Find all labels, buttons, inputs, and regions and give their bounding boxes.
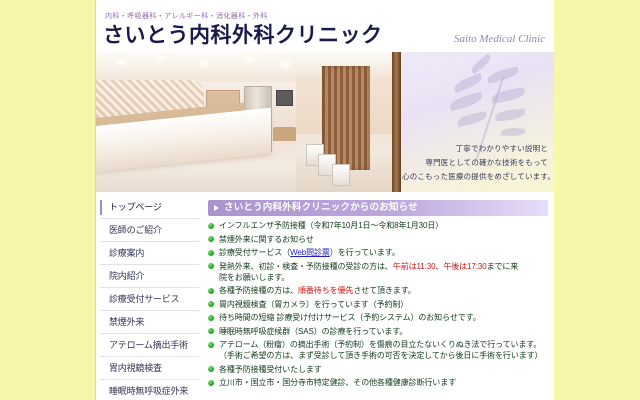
news-item-atheroma-surgery[interactable]: アテローム（粉瘤）の摘出手術（予約制）を傷痕の目立たないくりぬき法で行っています… bbox=[208, 339, 548, 361]
news-text: 各種予防接種受付いたします bbox=[219, 365, 322, 374]
leaf-icon bbox=[456, 111, 487, 127]
leaf-icon bbox=[448, 92, 484, 112]
news-item-health-checkup[interactable]: 立川市・国立市・国分寺市特定健診、その他各種健康診断行います bbox=[208, 377, 548, 388]
news-continuation: （手術ご希望の方は、まず受診して頂き手術の可否を決定してから後日に手術を行います… bbox=[219, 350, 548, 361]
news-highlight-hours: 午前は11:30、午後は17:30 bbox=[393, 262, 487, 271]
news-item-fever-clinic-hours[interactable]: 発熱外来、初診・検査・予防接種の受診の方は、午前は11:30、午後は17:30ま… bbox=[208, 261, 548, 283]
waiting-area-photo bbox=[296, 52, 400, 192]
sidebar-item-label: 禁煙外来 bbox=[109, 317, 144, 327]
tagline-line-2: 専門医としての確かな技術をもって bbox=[402, 156, 548, 170]
tagline-line-1: 丁寧でわかりやすい説明と bbox=[402, 142, 548, 156]
news-text-after: させて頂きます。 bbox=[353, 286, 415, 295]
leaf-icon bbox=[501, 128, 525, 137]
news-text-before: 発熱外来、初診・検査・予防接種の受診の方は、 bbox=[219, 262, 393, 271]
sidebar-item-medical-guide[interactable]: 診療案内 bbox=[100, 242, 199, 265]
main-content: さいとう内科外科クリニックからのお知らせ インフルエンザ予防接種（令和7年10月… bbox=[204, 192, 554, 400]
news-item-reservation-system[interactable]: 待ち時間の短縮 診療受け付けサービス（予約システム）のお知らせです。 bbox=[208, 312, 548, 323]
news-item-vaccination-reception[interactable]: 各種予防接種受付いたします bbox=[208, 364, 548, 375]
news-continuation: 院をお願いします。 bbox=[219, 272, 548, 283]
news-list: インフルエンザ予防接種（令和7年10月1日〜令和8年1月30日） 禁煙外来に関す… bbox=[208, 220, 548, 388]
hero-tagline: 丁寧でわかりやすい説明と 専門医としての確かな技術をもって 心のこもった医療の提… bbox=[402, 142, 548, 184]
page-sheet: 内科・呼吸器科・アレルギー科・消化器科・外科 さいとう内科外科クリニック Sai… bbox=[95, 0, 553, 400]
wood-column-divider bbox=[392, 52, 401, 192]
sidebar-item-label: 院内紹介 bbox=[109, 271, 144, 281]
ceiling-light-icon bbox=[200, 61, 207, 65]
news-text-before: 診療受付サービス（ bbox=[219, 248, 290, 257]
news-text-before: 各種予防接種の方は、 bbox=[219, 286, 298, 295]
news-text-after: ）を行っています。 bbox=[330, 248, 400, 257]
sidebar-item-label: トップページ bbox=[109, 202, 162, 212]
tagline-panel: 丁寧でわかりやすい説明と 専門医としての確かな技術をもって 心のこもった医療の提… bbox=[401, 52, 554, 192]
news-highlight-priority: 順番待ちを優先 bbox=[298, 286, 353, 295]
wall-monitor bbox=[276, 90, 293, 106]
news-item-influenza[interactable]: インフルエンザ予防接種（令和7年10月1日〜令和8年1月30日） bbox=[208, 220, 548, 231]
leaf-icon bbox=[452, 73, 484, 94]
news-text: 睡眠時無呼吸症候群（SAS）の診療を行っています。 bbox=[219, 327, 407, 336]
page-root: 内科・呼吸器科・アレルギー科・消化器科・外科 さいとう内科外科クリニック Sai… bbox=[0, 0, 640, 400]
web-questionnaire-link[interactable]: Web問診票 bbox=[290, 248, 330, 257]
news-item-gastroscopy[interactable]: 胃内視鏡検査（胃カメラ）を行っています（予約制） bbox=[208, 299, 548, 310]
hero-banner: 丁寧でわかりやすい説明と 専門医としての確かな技術をもって 心のこもった医療の提… bbox=[96, 52, 554, 192]
news-item-vaccination-priority[interactable]: 各種予防接種の方は、順番待ちを優先させて頂きます。 bbox=[208, 285, 548, 296]
clinic-name-english: Saito Medical Clinic bbox=[454, 33, 545, 45]
news-text: インフルエンザ予防接種（令和7年10月1日〜令和8年1月30日） bbox=[219, 221, 443, 230]
news-text: 禁煙外来に関するお知らせ bbox=[219, 235, 314, 244]
sidebar-item-atheroma-surgery[interactable]: アテローム摘出手術 bbox=[100, 334, 199, 357]
sidebar-item-label: 胃内視鏡検査 bbox=[109, 363, 162, 373]
ceiling-light-icon bbox=[246, 57, 253, 61]
sidebar-nav: トップページ 医師のご紹介 診療案内 院内紹介 診療受付サービス 禁煙外来 アテ… bbox=[96, 192, 204, 400]
sidebar-item-top-page[interactable]: トップページ bbox=[100, 196, 199, 219]
sidebar-item-doctor-intro[interactable]: 医師のご紹介 bbox=[100, 219, 199, 242]
site-header: 内科・呼吸器科・アレルギー科・消化器科・外科 さいとう内科外科クリニック Sai… bbox=[96, 0, 554, 52]
clinic-name-title: さいとう内科外科クリニック bbox=[103, 19, 383, 49]
news-section-heading: さいとう内科外科クリニックからのお知らせ bbox=[208, 200, 548, 216]
sidebar-item-gastroscopy[interactable]: 胃内視鏡検査 bbox=[100, 357, 199, 380]
sidebar-item-smoking-cessation[interactable]: 禁煙外来 bbox=[100, 311, 199, 334]
tagline-line-3: 心のこもった医療の提供をめざしています。 bbox=[402, 170, 548, 184]
news-item-web-questionnaire[interactable]: 診療受付サービス（Web問診票）を行っています。 bbox=[208, 247, 548, 258]
sidebar-item-clinic-tour[interactable]: 院内紹介 bbox=[100, 265, 199, 288]
news-item-smoking-cessation[interactable]: 禁煙外来に関するお知らせ bbox=[208, 234, 548, 245]
leaf-icon bbox=[490, 87, 525, 104]
sidebar-item-label: 医師のご紹介 bbox=[109, 225, 162, 235]
sidebar-item-label: アテローム摘出手術 bbox=[109, 340, 188, 350]
reception-photo bbox=[96, 52, 296, 192]
sidebar-item-label: 診療受付サービス bbox=[109, 294, 179, 304]
sidebar-item-sleep-apnea[interactable]: 睡眠時無呼吸症外来 bbox=[100, 380, 199, 400]
news-text-after: までに来 bbox=[487, 262, 519, 271]
ceiling-light-icon bbox=[282, 62, 289, 66]
ceiling-light-icon bbox=[158, 56, 165, 60]
news-text: 胃内視鏡検査（胃カメラ）を行っています（予約制） bbox=[219, 300, 408, 309]
waiting-sofa bbox=[273, 127, 296, 141]
news-item-sleep-apnea[interactable]: 睡眠時無呼吸症候群（SAS）の診療を行っています。 bbox=[208, 326, 548, 337]
ceiling-light-icon bbox=[118, 60, 125, 64]
sidebar-item-label: 睡眠時無呼吸症外来 bbox=[109, 386, 188, 396]
news-text: アテローム（粉瘤）の摘出手術（予約制）を傷痕の目立たないくりぬき法で行っています… bbox=[219, 340, 541, 349]
sidebar-item-label: 診療案内 bbox=[109, 248, 144, 258]
leaf-icon bbox=[469, 53, 493, 74]
leaf-icon bbox=[486, 66, 519, 83]
sidebar-item-reception-service[interactable]: 診療受付サービス bbox=[100, 288, 199, 311]
ceiling-area bbox=[96, 52, 296, 82]
leaf-icon bbox=[495, 108, 526, 121]
news-text: 立川市・国立市・国分寺市特定健診、その他各種健康診断行います bbox=[219, 378, 456, 387]
news-text: 待ち時間の短縮 診療受け付けサービス（予約システム）のお知らせです。 bbox=[219, 313, 481, 322]
waiting-chair bbox=[332, 164, 350, 186]
